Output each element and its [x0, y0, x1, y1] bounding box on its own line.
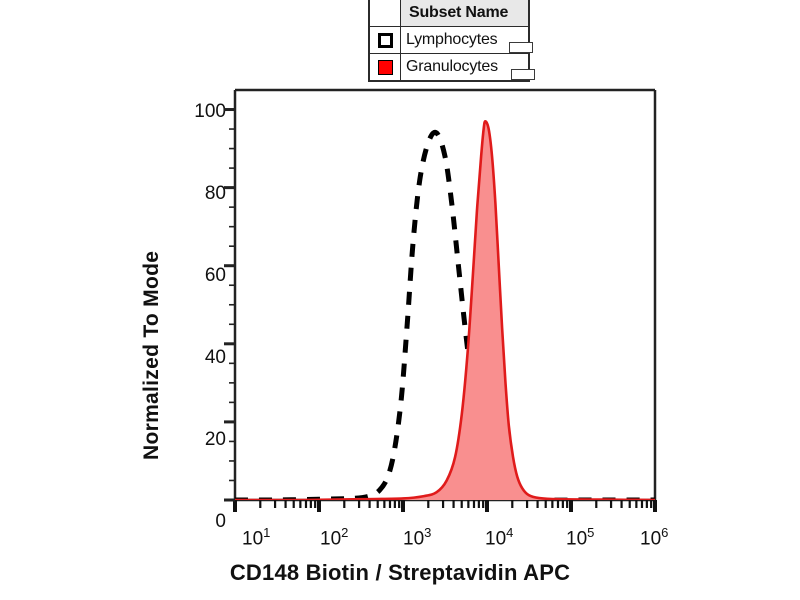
data-series-layer	[235, 121, 655, 500]
flow-cytometry-histogram-figure: Subset Name Lymphocytes Granulocytes Nor…	[0, 0, 800, 600]
y-axis-ticks	[224, 110, 235, 500]
series-lymphocytes	[235, 132, 655, 500]
series-granulocytes	[235, 121, 655, 500]
plot-canvas	[0, 0, 800, 600]
x-axis-ticks	[235, 500, 655, 512]
series-line-lymphocytes	[235, 132, 655, 500]
series-fill-granulocytes	[235, 121, 655, 500]
series-line-granulocytes	[235, 121, 655, 500]
